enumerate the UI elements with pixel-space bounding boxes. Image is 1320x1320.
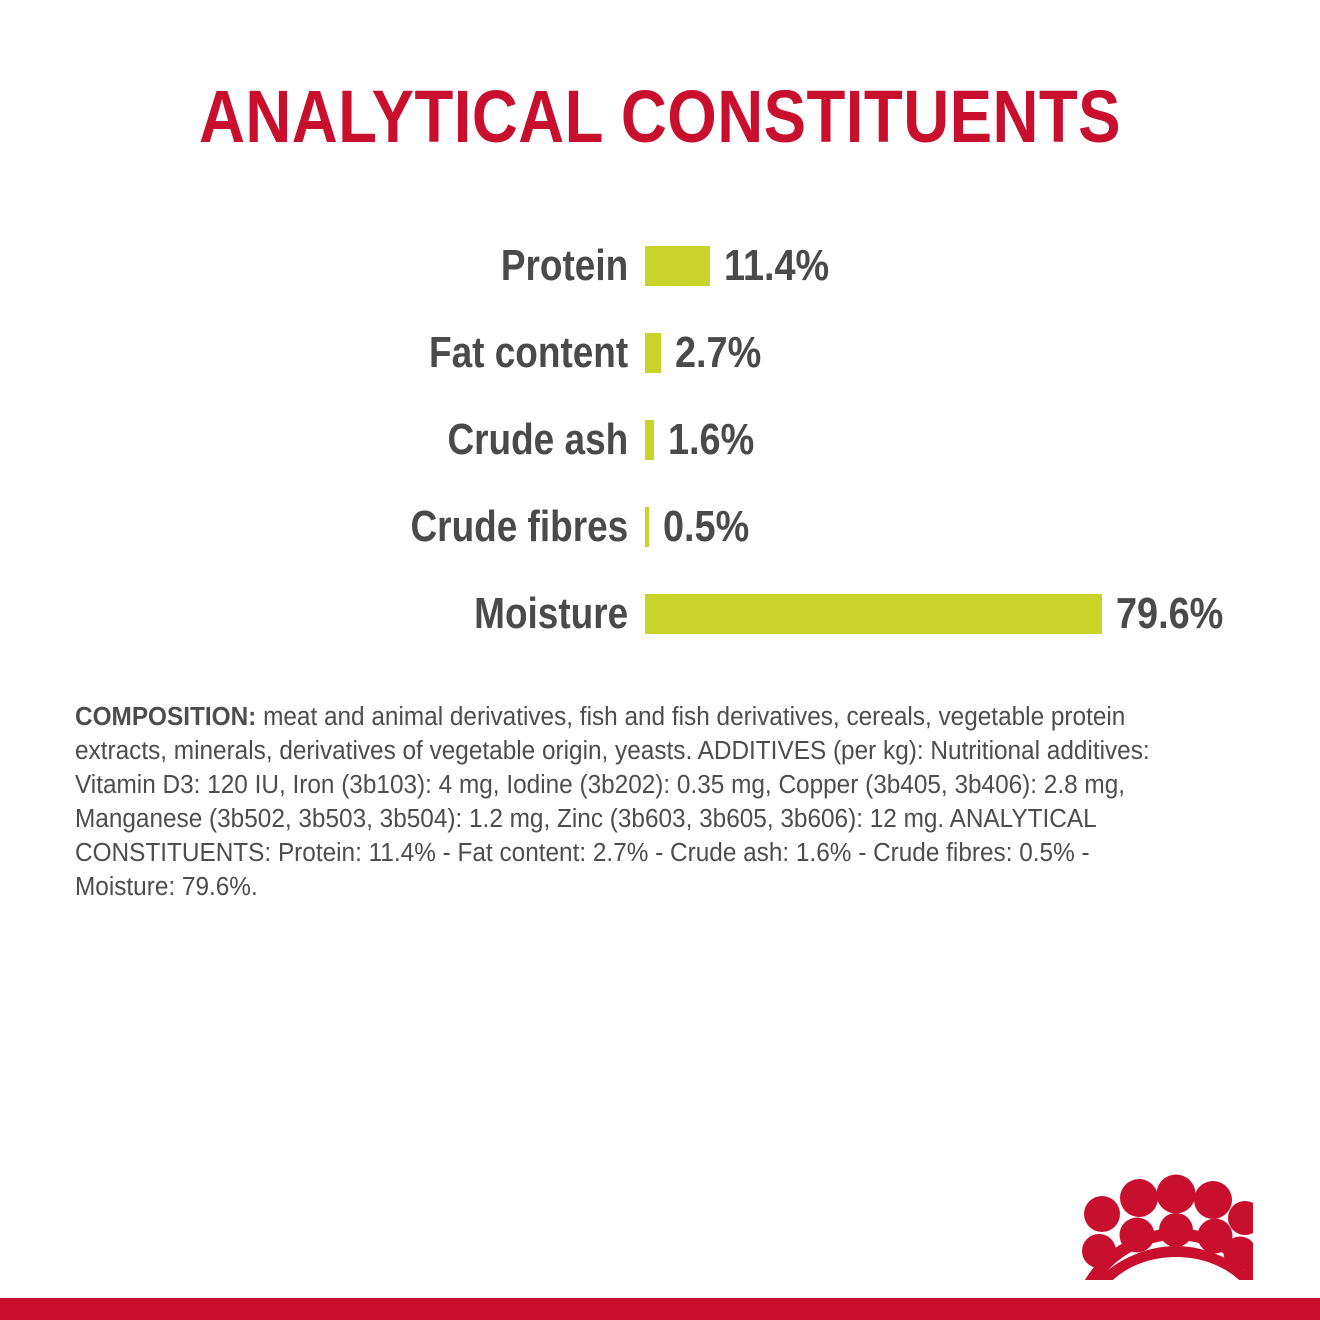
bar-track: 0.5% <box>645 483 1320 570</box>
bar-fill <box>645 594 1102 634</box>
bar-track: 11.4% <box>645 222 1320 309</box>
composition-paragraph: COMPOSITION: meat and animal derivatives… <box>75 700 1152 904</box>
bar-value: 1.6% <box>668 416 754 464</box>
bar-value: 79.6% <box>1116 590 1223 638</box>
chart-row: Protein11.4% <box>0 222 1320 309</box>
bar-label: Moisture <box>103 590 645 638</box>
nutrition-panel: ANALYTICAL CONSTITUENTS Protein11.4%Fat … <box>0 0 1320 1320</box>
bar-label: Protein <box>103 242 645 290</box>
bar-value: 11.4% <box>724 242 829 290</box>
analytical-constituents-bar-chart: Protein11.4%Fat content2.7%Crude ash1.6%… <box>0 222 1320 657</box>
composition-body: meat and animal derivatives, fish and fi… <box>75 703 1150 901</box>
bar-fill <box>645 420 654 460</box>
bar-fill <box>645 246 710 286</box>
bar-label: Crude ash <box>103 416 645 464</box>
chart-row: Crude fibres0.5% <box>0 483 1320 570</box>
bar-fill <box>645 333 661 373</box>
chart-row: Moisture79.6% <box>0 570 1320 657</box>
bar-label: Crude fibres <box>103 503 645 551</box>
chart-row: Fat content2.7% <box>0 309 1320 396</box>
bar-fill <box>645 507 649 547</box>
bar-label: Fat content <box>103 329 645 377</box>
bottom-red-band <box>0 1298 1320 1320</box>
chart-row: Crude ash1.6% <box>0 396 1320 483</box>
bar-track: 1.6% <box>645 396 1320 483</box>
bar-track: 79.6% <box>645 570 1320 657</box>
bar-value: 2.7% <box>675 329 761 377</box>
bar-value: 0.5% <box>663 503 749 551</box>
registered-trademark-mark: ® <box>1236 1256 1248 1273</box>
composition-heading: COMPOSITION: <box>75 703 256 731</box>
bar-track: 2.7% <box>645 309 1320 396</box>
page-title: ANALYTICAL CONSTITUENTS <box>92 78 1227 156</box>
royal-canin-crown-logo: ® <box>1073 1168 1253 1280</box>
